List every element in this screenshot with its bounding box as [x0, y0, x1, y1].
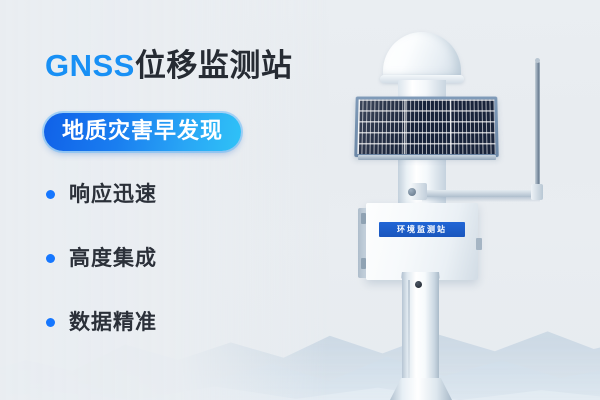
whip-antenna-icon [535, 61, 540, 187]
list-item: 高度集成 [46, 248, 157, 268]
enclosure-label: 环境监测站 [379, 222, 465, 237]
mast-base-flare [390, 378, 452, 400]
feature-label: 数据精准 [69, 312, 157, 333]
bullet-dot-icon [46, 318, 55, 327]
feature-list: 响应迅速 高度集成 数据精准 [46, 184, 157, 332]
page-title: GNSS位移监测站 [45, 50, 292, 81]
bracket-arm-shadow [422, 197, 540, 202]
feature-label: 高度集成 [69, 248, 157, 269]
product-banner: 环境监测站 GNSS位移监测站 地质灾害早发现 响应迅速 高度集成 数据精准 [0, 0, 600, 400]
enclosure-hinge-lower [361, 258, 366, 269]
solar-panel-cells [357, 99, 495, 154]
bracket-pivot-knob [408, 188, 416, 196]
list-item: 响应迅速 [46, 184, 157, 204]
bullet-dot-icon [46, 254, 55, 263]
gnss-dome-antenna-icon [383, 32, 461, 79]
page-title-rest: 位移监测站 [135, 48, 293, 83]
enclosure-hinge-upper [361, 213, 366, 224]
gnss-monitoring-station-illustration: 环境监测站 [330, 0, 600, 400]
mast-fastener [415, 281, 422, 288]
tagline-badge: 地质灾害早发现 [44, 113, 241, 151]
page-title-highlight: GNSS [45, 48, 135, 83]
whip-antenna-tip [535, 58, 540, 63]
solar-panel-rail [358, 155, 496, 160]
feature-label: 响应迅速 [69, 184, 157, 205]
solar-panel-icon [354, 97, 498, 158]
bullet-dot-icon [46, 190, 55, 199]
enclosure-latch [476, 238, 482, 250]
enclosure-box [366, 203, 478, 280]
whip-antenna-mount [531, 184, 543, 200]
list-item: 数据精准 [46, 312, 157, 332]
bracket-arm [422, 190, 540, 197]
